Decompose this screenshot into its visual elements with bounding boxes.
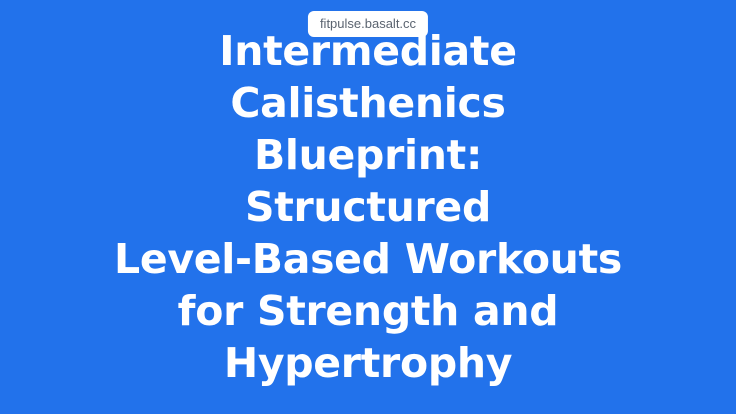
site-domain-badge: fitpulse.basalt.cc [308,11,428,37]
article-cover-card: Intermediate Calisthenics Blueprint: Str… [0,0,736,414]
page-title: Intermediate Calisthenics Blueprint: Str… [0,0,736,414]
